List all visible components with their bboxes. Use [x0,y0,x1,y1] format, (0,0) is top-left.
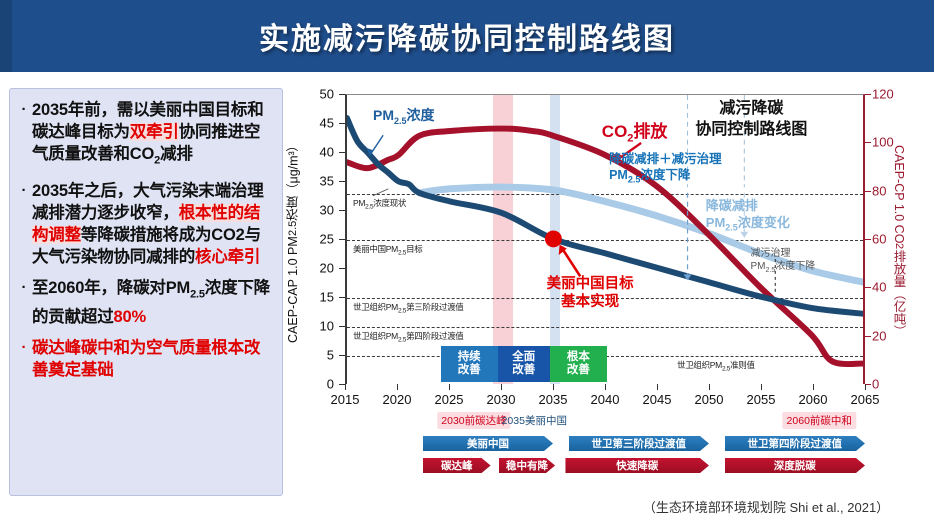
stage-box: 根本改善 [550,346,607,382]
slide-root: 实施减污降碳协同控制路线图 ·2035年前，需以美丽中国目标和碳达峰目标为双牵引… [0,0,934,529]
marker-point-beautiful-china [545,230,562,247]
annotation-carbon-effect: 降碳减排PM2.5浓度变化 [706,197,790,237]
year-callout: 2060前碳中和 [783,412,856,429]
year-callout: 2035美丽中国 [498,412,571,429]
bullet-item: ·至2060年，降碳对PM2.5浓度下降的贡献超过80% [16,277,274,327]
stage-box-label-bottom: 改善 [512,364,535,377]
chart-container: CAEP-CAP 1.0 PM2.5浓度（μg/m³） CAEP-CP 1.0 … [288,86,928,498]
y-axis-right-tick-label: 20 [872,328,898,343]
y-axis-right-tick-label: 40 [872,280,898,295]
x-axis-tickmark [813,384,814,390]
x-axis-tick-label: 2025 [435,392,464,407]
x-axis-tickmark [657,384,658,390]
annotation-arrow [684,193,692,280]
x-axis-tick-label: 2055 [747,392,776,407]
stage-box-label-top: 全面 [512,351,535,364]
phase-arrow: 稳中有降 [499,458,555,473]
annotation-pollution-effect: 减污治理PM2.5浓度下降 [751,247,816,277]
x-axis-tick-label: 2040 [591,392,620,407]
annotation-combined-effect: 降碳减排＋减污治理PM2.5浓度下降 [609,151,722,188]
x-axis-tickmark [449,384,450,390]
y-axis-left-tick-label: 20 [310,261,334,276]
x-axis-tickmark [865,384,866,390]
y-axis-right-tickmark [865,94,871,95]
y-axis-left-tick-label: 30 [310,203,334,218]
x-axis-tick-label: 2035 [539,392,568,407]
x-axis-tick-label: 2050 [695,392,724,407]
y-axis-left-title: CAEP-CAP 1.0 PM2.5浓度（μg/m³） [282,126,304,356]
goal-leader-line [563,249,581,276]
x-axis-tick-label: 2045 [643,392,672,407]
stage-box: 持续改善 [441,346,498,382]
phase-arrow: 美丽中国 [423,436,553,451]
phase-arrow: 世卫第三阶段过渡值 [569,436,709,451]
phase-arrow: 快速降碳 [565,458,709,473]
y-axis-right-tick-label: 60 [872,232,898,247]
x-axis-tickmark [501,384,502,390]
y-axis-right-tickmark [865,287,871,288]
y-axis-right-tick-label: 100 [872,135,898,150]
bullet-item: ·2035年之后，大气污染末端治理减排潜力逐步收窄，根本性的结构调整等降碳措施将… [16,180,274,268]
co2-series-label: CO2排放 [602,117,668,144]
stage-box-label-top: 根本 [567,351,590,364]
y-axis-left-tick-label: 40 [310,145,334,160]
y-axis-right-tick-label: 120 [872,87,898,102]
y-axis-right-tickmark [865,239,871,240]
bullet-item: ·2035年前，需以美丽中国目标和碳达峰目标为双牵引协同推进空气质量改善和CO2… [16,99,274,171]
x-axis-tick-label: 2060 [799,392,828,407]
plot-area: PM2.5浓度现状美丽中国PM2.5目标世卫组织PM2.5第三阶段过渡值世卫组织… [345,94,865,384]
slide-header: 实施减污降碳协同控制路线图 [0,0,934,72]
y-axis-right-tick-label: 0 [872,377,898,392]
stage-box: 全面改善 [498,346,550,382]
stage-box-label-bottom: 改善 [458,364,481,377]
source-citation: （生态环境部环境规划院 Shi et al., 2021） [606,497,926,516]
stage-box-group: 持续改善全面改善根本改善 [441,346,607,382]
x-axis-tick-label: 2065 [851,392,880,407]
x-axis-tickmark [761,384,762,390]
y-axis-right-tickmark [865,336,871,337]
bullet-dot-icon: · [16,277,32,327]
stage-box-label-top: 持续 [458,351,481,364]
x-axis-tickmark [397,384,398,390]
bullet-text: 碳达峰碳中和为空气质量根本改善奠定基础 [32,337,274,381]
bullet-dot-icon: · [16,337,32,381]
bullet-text: 2035年之后，大气污染末端治理减排潜力逐步收窄，根本性的结构调整等降碳措施将成… [32,180,274,268]
y-axis-right-tickmark [865,142,871,143]
y-axis-left-tick-label: 35 [310,174,334,189]
bullet-dot-icon: · [16,99,32,171]
y-axis-left-tick-label: 15 [310,290,334,305]
page-title: 实施减污降碳协同控制路线图 [259,14,675,58]
x-axis-tickmark [345,384,346,390]
y-axis-left-tick-label: 5 [310,348,334,363]
stage-box-label-bottom: 改善 [567,364,590,377]
annotation-goal-achieved: 美丽中国目标基本实现 [547,275,634,311]
y-axis-right-tick-label: 80 [872,183,898,198]
bullet-dot-icon: · [16,180,32,268]
x-axis-tick-label: 2020 [383,392,412,407]
bullet-item: ·碳达峰碳中和为空气质量根本改善奠定基础 [16,337,274,381]
y-axis-left-tick-label: 10 [310,319,334,334]
y-axis-left-tick-label: 0 [310,377,334,392]
bullet-panel: ·2035年前，需以美丽中国目标和碳达峰目标为双牵引协同推进空气质量改善和CO2… [9,88,283,496]
x-axis-tickmark [553,384,554,390]
x-axis-tickmark [605,384,606,390]
x-axis-tick-label: 2030 [487,392,516,407]
pm25-series-label: PM2.5浓度 [373,105,435,126]
phase-arrow: 碳达峰 [423,458,491,473]
y-axis-left-tick-label: 45 [310,116,334,131]
y-axis-left-tick-label: 25 [310,232,334,247]
bullet-text: 2035年前，需以美丽中国目标和碳达峰目标为双牵引协同推进空气质量改善和CO2减… [32,99,274,171]
phase-arrow: 世卫第四阶段过渡值 [725,436,865,451]
y-axis-right-tickmark [865,191,871,192]
y-axis-left-tick-label: 50 [310,87,334,102]
reference-label-leader [373,189,388,196]
x-axis-tick-label: 2015 [331,392,360,407]
chart-title: 减污降碳协同控制路线图 [695,98,807,140]
x-axis-tickmark [709,384,710,390]
bullet-text: 至2060年，降碳对PM2.5浓度下降的贡献超过80% [32,277,274,327]
phase-arrow: 深度脱碳 [725,458,865,473]
